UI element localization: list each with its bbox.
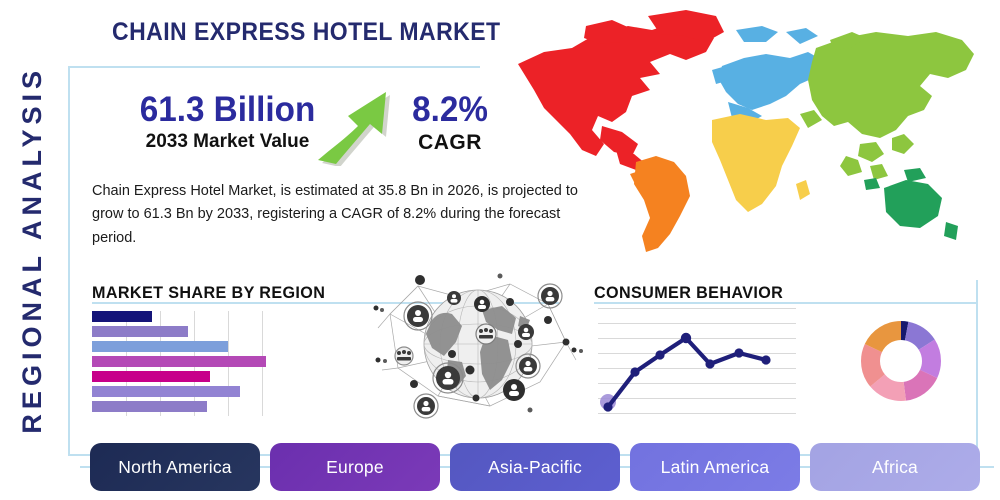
region-pill-asia-pacific[interactable]: Asia-Pacific bbox=[450, 443, 620, 491]
bar-2 bbox=[92, 326, 188, 337]
consumer-behavior-line-chart bbox=[598, 308, 796, 416]
bar-7 bbox=[92, 401, 207, 412]
section-header-consumer-behavior: CONSUMER BEHAVIOR bbox=[594, 283, 783, 303]
region-pill-latin-america-label: Latin America bbox=[661, 457, 770, 478]
kpi-market-value-label: 2033 Market Value bbox=[120, 131, 335, 153]
vertical-side-label-text: REGIONAL ANALYSIS bbox=[17, 66, 48, 434]
bar-5 bbox=[92, 371, 210, 382]
market-share-bar-chart bbox=[92, 311, 292, 416]
region-pill-north-america-label: North America bbox=[118, 457, 231, 478]
vertical-side-label: REGIONAL ANALYSIS bbox=[6, 0, 58, 500]
section-rule-consumer-behavior bbox=[594, 302, 978, 304]
kpi-cagr-number: 8.2% bbox=[398, 92, 503, 127]
market-description: Chain Express Hotel Market, is estimated… bbox=[92, 180, 597, 250]
bar-3 bbox=[92, 341, 228, 352]
donut-chart bbox=[853, 313, 949, 409]
region-pill-north-america[interactable]: North America bbox=[90, 443, 260, 491]
bar-1 bbox=[92, 311, 152, 322]
page-title: CHAIN EXPRESS HOTEL MARKET bbox=[112, 18, 501, 47]
kpi-market-value-number: 61.3 Billion bbox=[125, 92, 329, 127]
region-pill-africa[interactable]: Africa bbox=[810, 443, 980, 491]
infographic-root: REGIONAL ANALYSIS CHAIN EXPRESS HOTEL MA… bbox=[0, 0, 1000, 500]
section-header-market-share: MARKET SHARE BY REGION bbox=[92, 283, 325, 303]
kpi-market-value: 61.3 Billion 2033 Market Value bbox=[120, 92, 335, 153]
bar-4 bbox=[92, 356, 266, 367]
region-pill-latin-america[interactable]: Latin America bbox=[630, 443, 800, 491]
region-pill-asia-pacific-label: Asia-Pacific bbox=[488, 457, 582, 478]
kpi-cagr: 8.2% CAGR bbox=[395, 92, 505, 155]
kpi-cagr-label: CAGR bbox=[395, 131, 505, 155]
region-pill-europe[interactable]: Europe bbox=[270, 443, 440, 491]
pill-connector-right bbox=[978, 466, 994, 468]
growth-arrow-icon bbox=[312, 82, 402, 166]
bar-6 bbox=[92, 386, 240, 397]
global-network-globe-icon bbox=[370, 264, 586, 424]
region-pill-row: North America Europe Asia-Pacific Latin … bbox=[80, 443, 980, 491]
region-pill-africa-label: Africa bbox=[872, 457, 918, 478]
region-pill-europe-label: Europe bbox=[326, 457, 384, 478]
